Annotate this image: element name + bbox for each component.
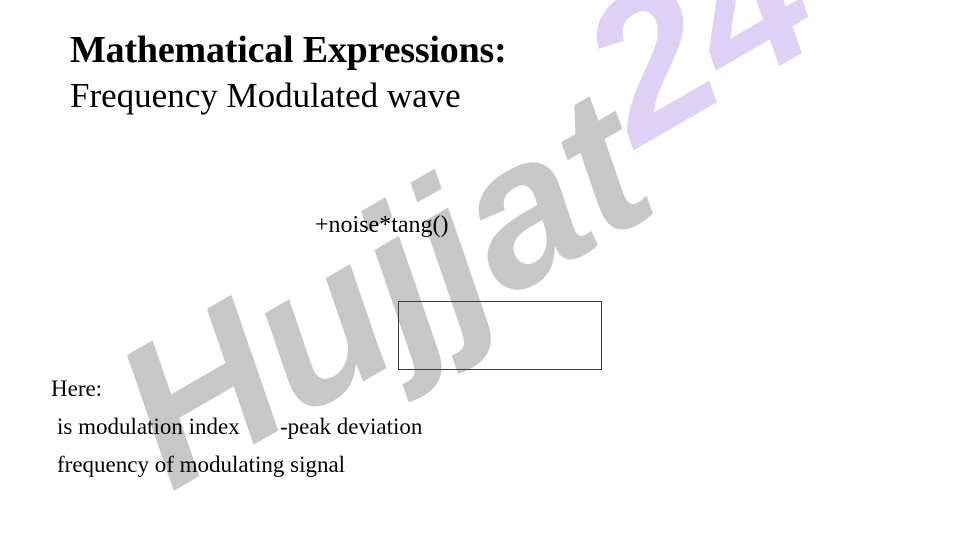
page-title: Mathematical Expressions: Frequency Modu…	[70, 31, 507, 113]
legend-heading: Here:	[50, 377, 422, 400]
legend-block: Here: is modulation index -peak deviatio…	[50, 377, 422, 476]
legend-item-modulation-index: is modulation index -peak deviation	[50, 415, 422, 438]
equation-placeholder-box	[398, 301, 602, 370]
noise-expression-text: +noise*tang()	[315, 212, 449, 239]
legend-item-modulating-frequency: frequency of modulating signal	[50, 453, 422, 476]
page-title-line-1: Mathematical Expressions:	[70, 31, 507, 69]
watermark-text-24: 24	[543, 0, 851, 188]
slide-canvas: Hujjat 24 Mathematical Expressions: Freq…	[0, 0, 961, 540]
page-title-line-2: Frequency Modulated wave	[70, 78, 507, 113]
